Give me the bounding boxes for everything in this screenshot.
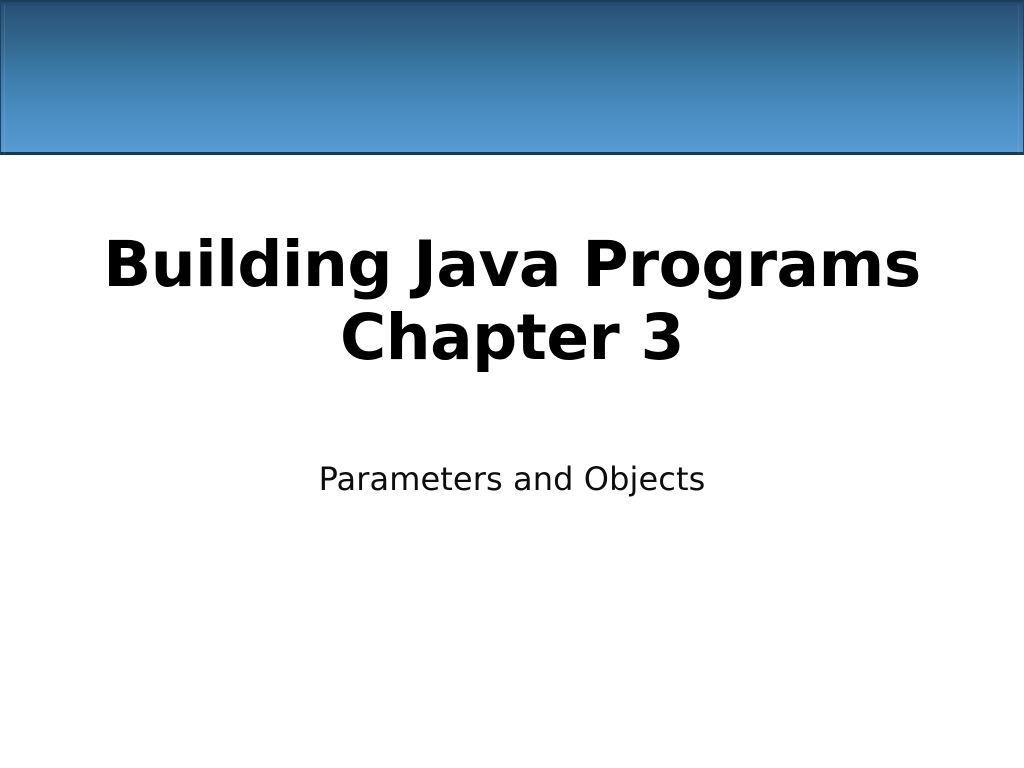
banner-left-sheen xyxy=(4,4,5,154)
slide-subtitle: Parameters and Objects xyxy=(62,458,962,500)
banner-right-sheen xyxy=(1018,4,1019,154)
slide-title-line-1: Building Java Programs xyxy=(62,228,962,301)
slide-title-line-2: Chapter 3 xyxy=(62,301,962,374)
header-banner xyxy=(0,0,1024,155)
slide-subtitle-line-1: Parameters and Objects xyxy=(62,458,962,500)
slide-body-area xyxy=(0,520,1024,768)
presentation-slide: Building Java Programs Chapter 3 Paramet… xyxy=(0,0,1024,768)
slide-title: Building Java Programs Chapter 3 xyxy=(62,228,962,374)
